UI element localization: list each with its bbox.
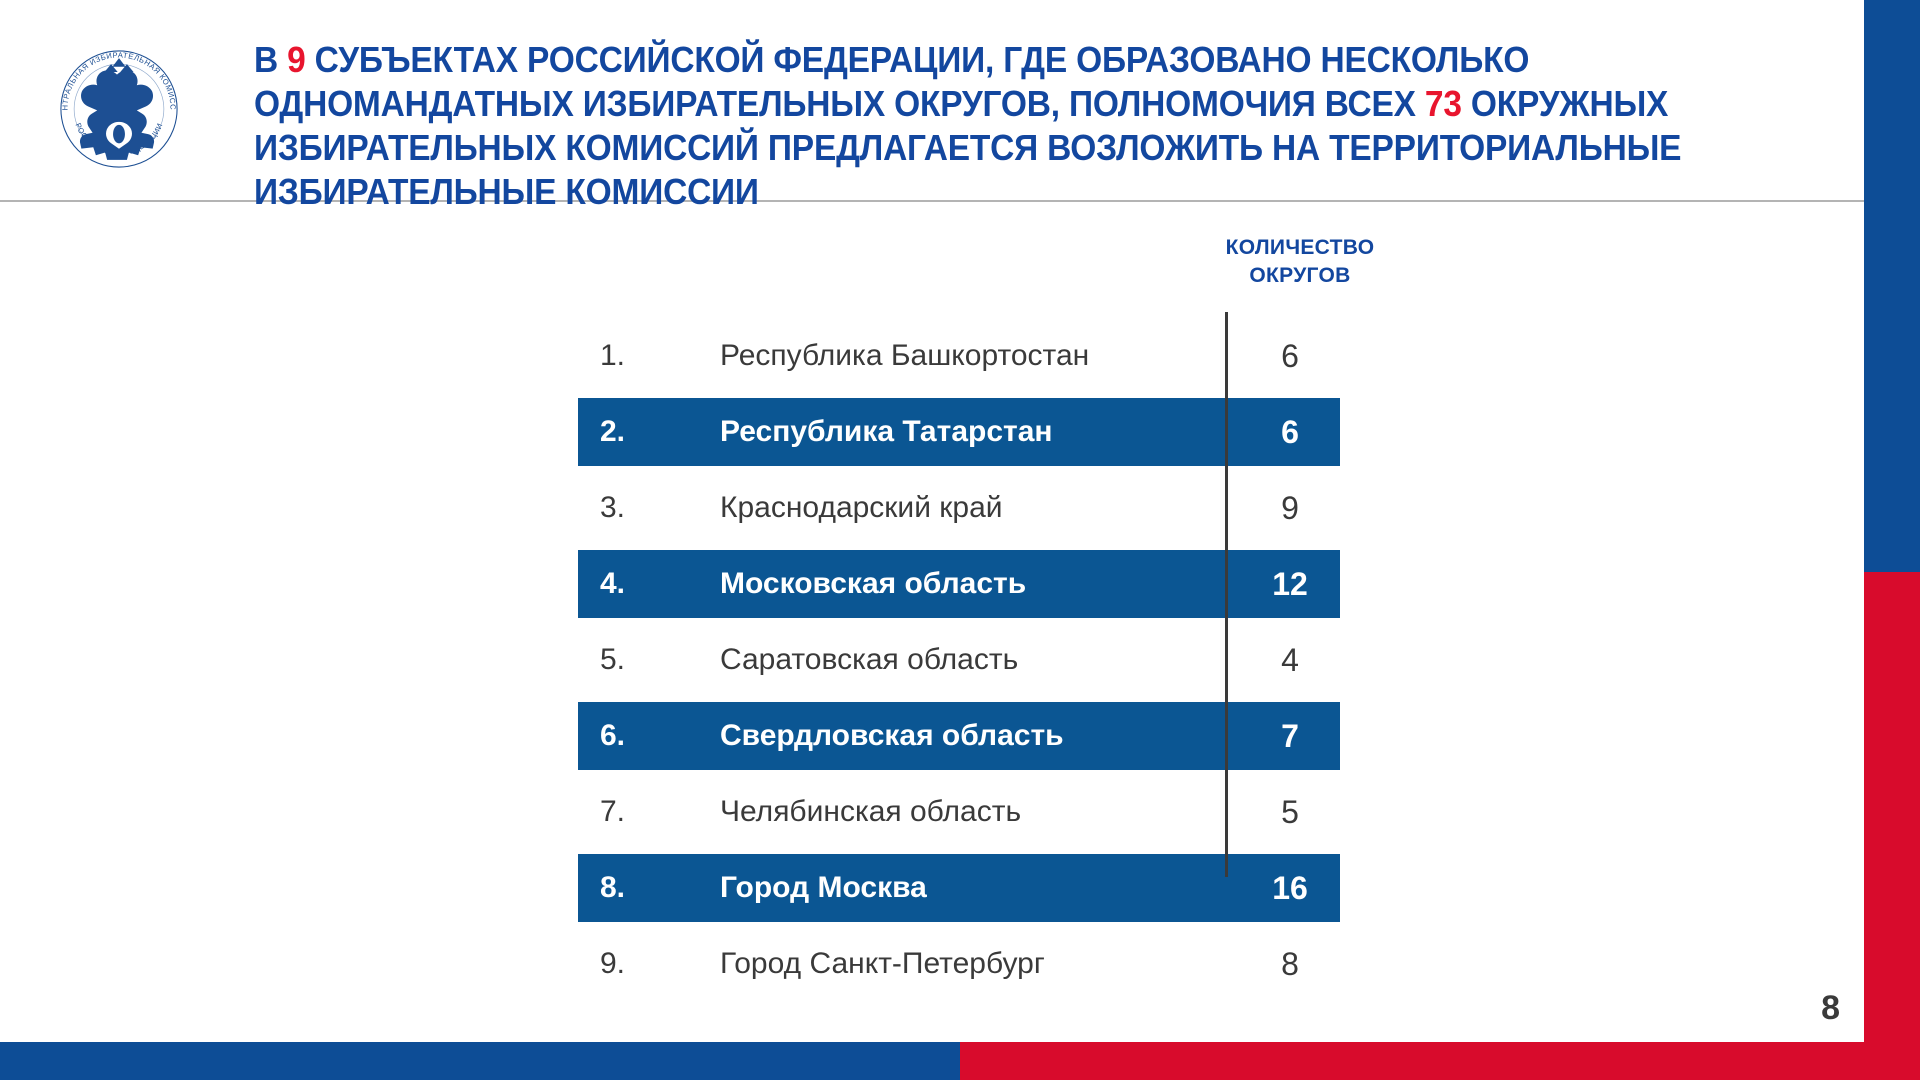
- row-index: 8.: [600, 871, 720, 905]
- title-block: В 9 СУБЪЕКТАХ РОССИЙСКОЙ ФЕДЕРАЦИИ, ГДЕ …: [254, 38, 1804, 214]
- right-stripe-red: [1864, 572, 1920, 1080]
- table-row: 5.Саратовская область4: [0, 622, 1864, 698]
- table-row: 6.Свердловская область7: [0, 698, 1864, 774]
- regions-table: КОЛИЧЕСТВО ОКРУГОВ 1.Республика Башкорто…: [0, 202, 1864, 1022]
- row-index: 6.: [600, 719, 720, 753]
- right-flag-stripe: [1864, 0, 1920, 1080]
- title-text-1: В: [254, 39, 287, 80]
- row-index: 4.: [600, 567, 720, 601]
- table-body: 1.Республика Башкортостан62.Республика Т…: [0, 318, 1864, 1002]
- row-count: 5: [1240, 794, 1340, 831]
- column-divider: [1225, 312, 1228, 877]
- table-row: 3.Краснодарский край9: [0, 470, 1864, 546]
- page-number: 8: [1821, 989, 1840, 1028]
- row-count: 9: [1240, 490, 1340, 527]
- cec-russia-emblem: ЦЕНТРАЛЬНАЯ ИЗБИРАТЕЛЬНАЯ КОМИССИЯ РОССИ…: [44, 34, 194, 184]
- row-count: 12: [1240, 566, 1340, 603]
- row-index: 7.: [600, 795, 720, 829]
- bottom-bar-red: [960, 1042, 1920, 1080]
- title-accent-count-commissions: 73: [1425, 83, 1462, 124]
- row-count: 16: [1240, 870, 1340, 907]
- row-count: 4: [1240, 642, 1340, 679]
- table-row: 8.Город Москва16: [0, 850, 1864, 926]
- column-header-count: КОЛИЧЕСТВО ОКРУГОВ: [1190, 234, 1410, 289]
- row-count: 6: [1240, 338, 1340, 375]
- row-count: 6: [1240, 414, 1340, 451]
- bottom-bar-blue: [0, 1042, 960, 1080]
- row-count: 8: [1240, 946, 1340, 983]
- table-row: 9.Город Санкт-Петербург8: [0, 926, 1864, 1002]
- bottom-flag-bar: [0, 1042, 1920, 1080]
- row-count: 7: [1240, 718, 1340, 755]
- slide-header: ЦЕНТРАЛЬНАЯ ИЗБИРАТЕЛЬНАЯ КОМИССИЯ РОССИ…: [0, 0, 1864, 202]
- row-index: 1.: [600, 339, 720, 373]
- table-row: 7.Челябинская область5: [0, 774, 1864, 850]
- table-row: 1.Республика Башкортостан6: [0, 318, 1864, 394]
- row-index: 9.: [600, 947, 720, 981]
- title-text-2: СУБЪЕКТАХ РОССИЙСКОЙ ФЕДЕРАЦИИ, ГДЕ ОБРА…: [254, 39, 1529, 124]
- row-index: 2.: [600, 415, 720, 449]
- table-row: 4.Московская область12: [0, 546, 1864, 622]
- right-stripe-blue: [1864, 0, 1920, 572]
- page-title: В 9 СУБЪЕКТАХ РОССИЙСКОЙ ФЕДЕРАЦИИ, ГДЕ …: [254, 38, 1696, 214]
- cec-russia-emblem-svg: ЦЕНТРАЛЬНАЯ ИЗБИРАТЕЛЬНАЯ КОМИССИЯ РОССИ…: [53, 43, 185, 175]
- title-accent-count-subjects: 9: [287, 39, 305, 80]
- table-row: 2.Республика Татарстан6: [0, 394, 1864, 470]
- row-index: 3.: [600, 491, 720, 525]
- row-index: 5.: [600, 643, 720, 677]
